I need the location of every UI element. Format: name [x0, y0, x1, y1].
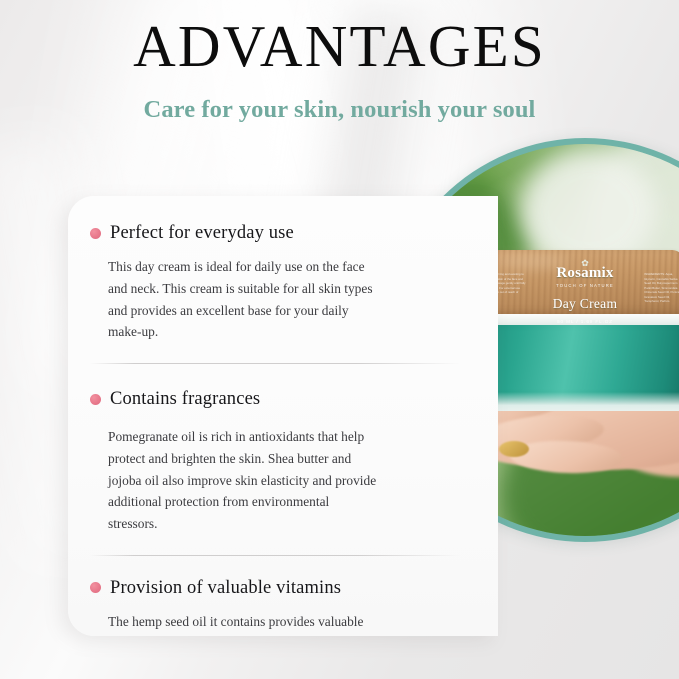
advantage-heading: Perfect for everyday use — [110, 222, 294, 244]
advantage-item-3: Provision of valuable vitamins The hemp … — [68, 556, 498, 636]
advantage-heading-row: Contains fragrances — [90, 388, 460, 410]
jar-brand-tagline: TOUCH OF NATURE — [479, 283, 679, 288]
poster-header: ADVANTAGES Care for your skin, nourish y… — [0, 16, 679, 124]
page-subtitle: Care for your skin, nourish your soul — [0, 96, 679, 124]
jar-label: ✿ Rosamix TOUCH OF NATURE Day Cream 50 M… — [479, 266, 679, 324]
page-title: ADVANTAGES — [0, 16, 679, 76]
leaf-icon: ✿ — [581, 258, 589, 269]
ring-jewelry — [499, 441, 529, 457]
advantage-heading-row: Perfect for everyday use — [90, 222, 460, 244]
cream-jar: Apply morning and evening to cleansed sk… — [479, 250, 679, 411]
advantages-poster: ADVANTAGES Care for your skin, nourish y… — [0, 0, 679, 679]
advantage-heading-row: Provision of valuable vitamins — [90, 577, 460, 599]
jar-body — [479, 325, 679, 410]
dot-icon — [90, 228, 101, 239]
advantage-item-1: Perfect for everyday use This day cream … — [68, 196, 498, 364]
advantage-body: Pomegranate oil is rich in antioxidants … — [108, 426, 380, 535]
advantage-item-2: Contains fragrances Pomegranate oil is r… — [68, 364, 498, 556]
jar-product-name: Day Cream — [479, 296, 679, 312]
advantage-body: This day cream is ideal for daily use on… — [108, 256, 380, 343]
advantage-body: The hemp seed oil it contains provides v… — [108, 611, 380, 636]
advantage-heading: Contains fragrances — [110, 388, 260, 410]
dot-icon — [90, 394, 101, 405]
dot-icon — [90, 582, 101, 593]
advantages-card: Perfect for everyday use This day cream … — [68, 196, 498, 636]
jar-brand-name: Rosamix — [479, 266, 679, 281]
jar-volume: 50 ML / 1.69 FL.OZ — [479, 319, 679, 324]
advantage-heading: Provision of valuable vitamins — [110, 577, 341, 599]
